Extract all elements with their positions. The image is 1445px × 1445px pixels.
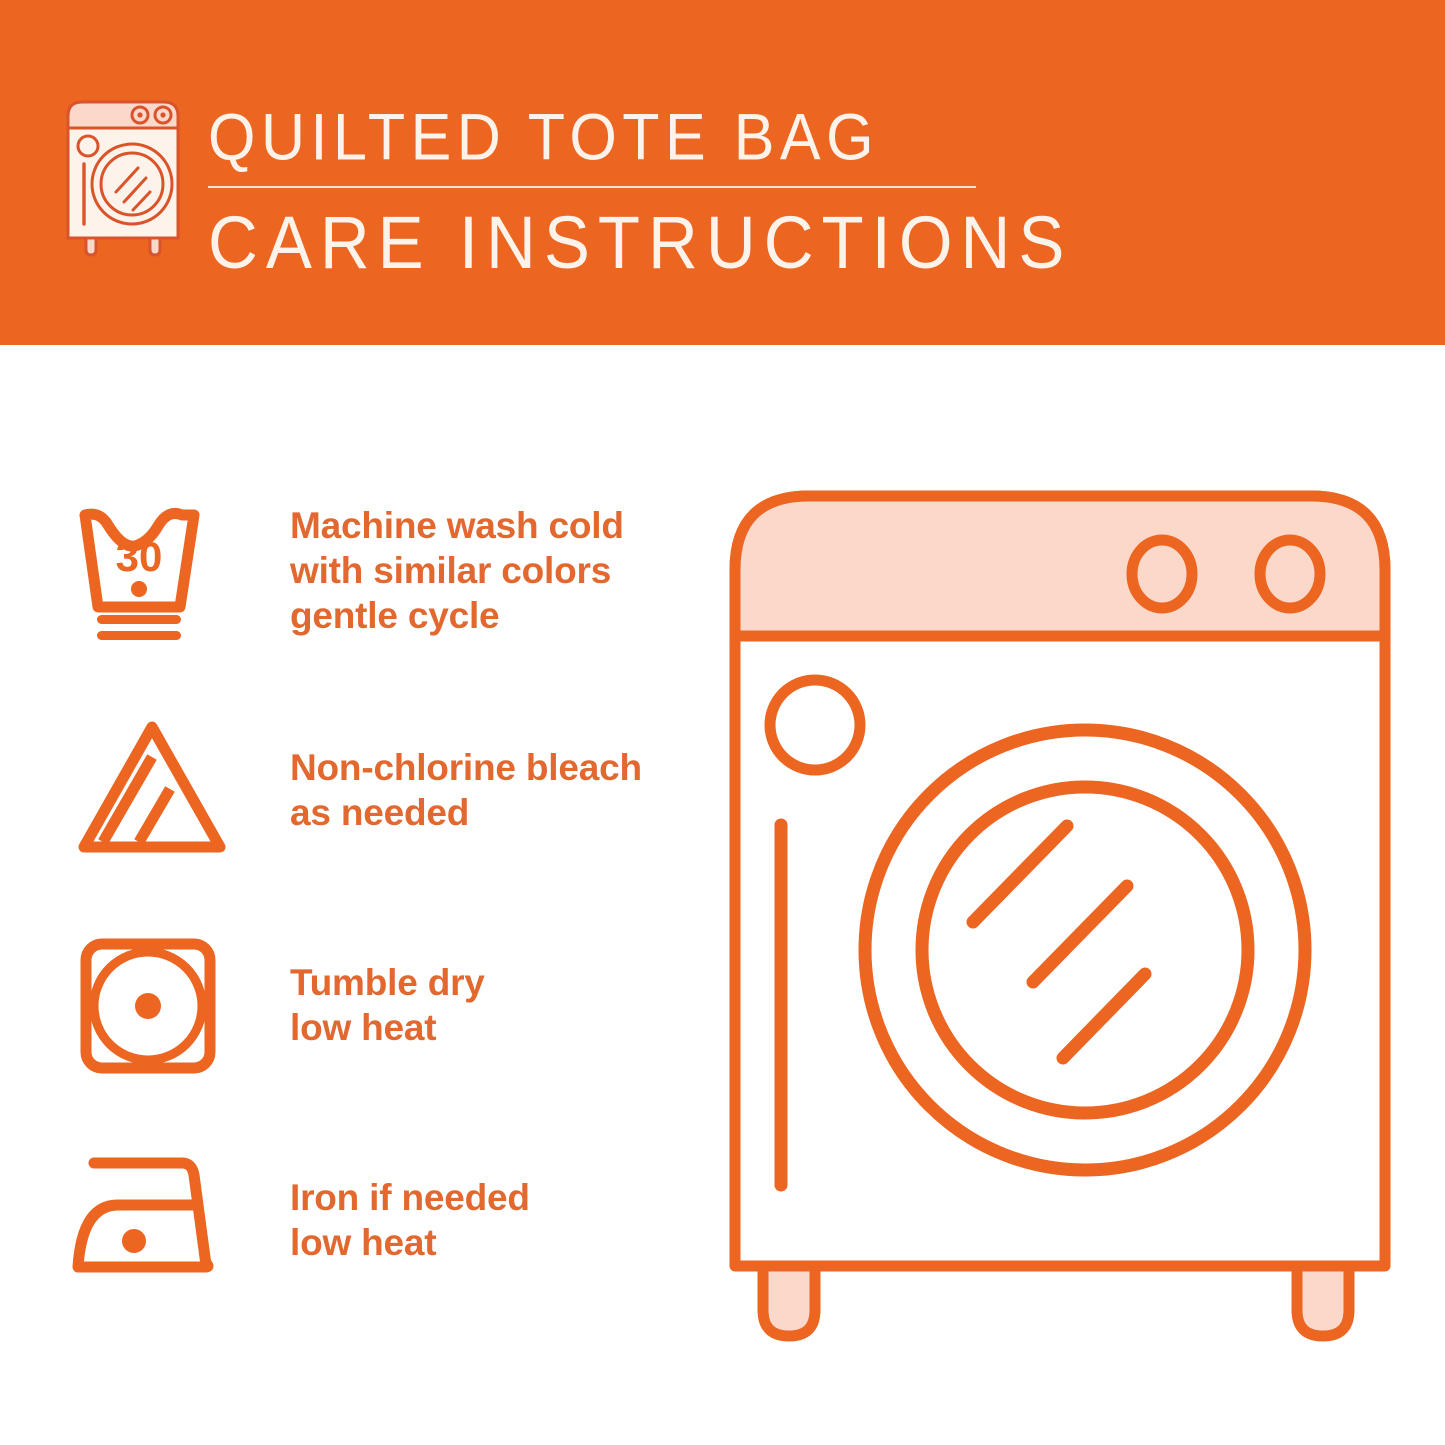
care-text-bleach: Non-chlorine bleach as needed (290, 745, 642, 835)
wash-temperature-label: 30 (116, 533, 163, 580)
care-line: as needed (290, 790, 642, 835)
care-text-tumble-dry: Tumble dry low heat (290, 960, 485, 1050)
care-line: Tumble dry (290, 960, 485, 1005)
page-subtitle: CARE INSTRUCTIONS (208, 198, 998, 289)
header-text-block: QUILTED TOTE BAG CARE INSTRUCTIONS (208, 96, 998, 282)
care-line: Machine wash cold (290, 503, 624, 548)
washing-machine-icon (62, 98, 184, 258)
care-text-machine-wash: Machine wash cold with similar colors ge… (290, 503, 624, 638)
care-text-iron: Iron if needed low heat (290, 1175, 530, 1265)
non-chlorine-bleach-triangle-icon (72, 715, 232, 875)
care-line: Iron if needed (290, 1175, 530, 1220)
front-load-washing-machine-illustration (715, 470, 1405, 1380)
care-line: gentle cycle (290, 593, 624, 638)
title-divider (208, 186, 976, 188)
page-title: QUILTED TOTE BAG (208, 96, 998, 178)
care-instruction-list: 30 Machine wash cold with similar colors… (0, 345, 700, 1445)
control-panel (735, 496, 1385, 636)
tumble-dry-icon (72, 930, 232, 1090)
header-banner: QUILTED TOTE BAG CARE INSTRUCTIONS (0, 0, 1445, 345)
iron-icon (72, 1145, 232, 1305)
care-line: with similar colors (290, 548, 624, 593)
care-instructions-infographic: QUILTED TOTE BAG CARE INSTRUCTIONS 30 (0, 0, 1445, 1445)
care-line: Non-chlorine bleach (290, 745, 642, 790)
care-line: low heat (290, 1005, 485, 1050)
machine-wash-tub-icon: 30 (72, 495, 232, 655)
care-line: low heat (290, 1220, 530, 1265)
